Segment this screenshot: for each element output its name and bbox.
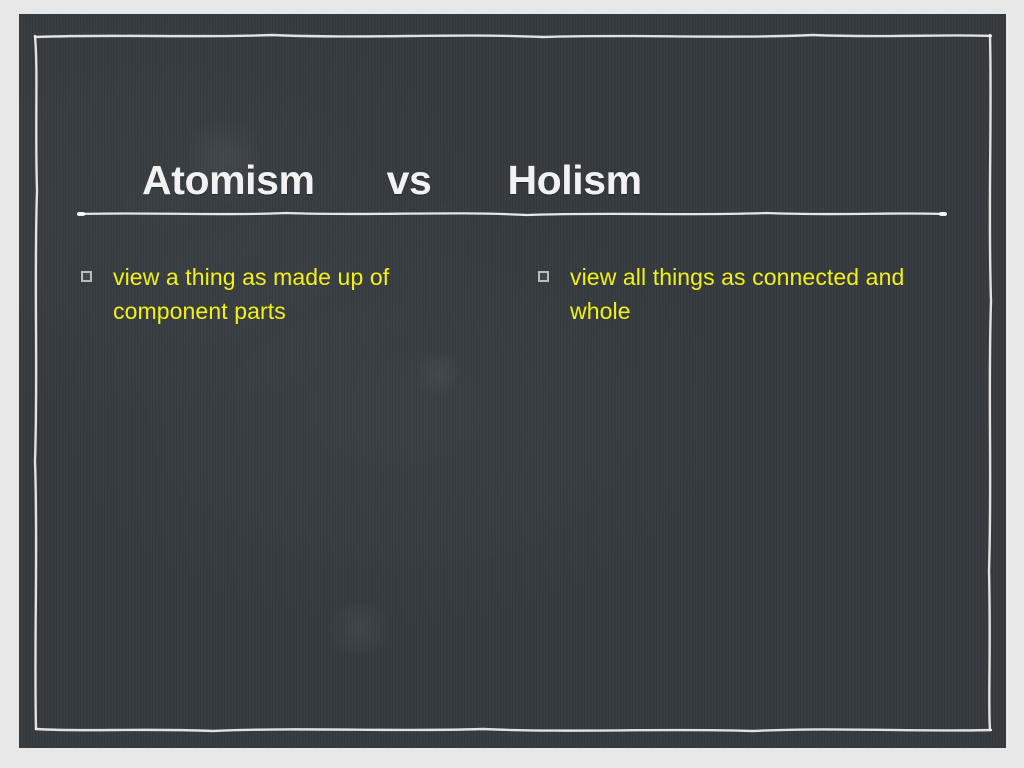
bullet-columns: view a thing as made up of component par… bbox=[19, 260, 1006, 328]
chalk-smudge bbox=[319, 604, 399, 654]
hollow-square-bullet-icon bbox=[538, 271, 549, 282]
bullet-column-holism: view all things as connected and whole bbox=[538, 260, 938, 328]
title-underline-rule bbox=[77, 207, 947, 221]
hollow-square-bullet-icon bbox=[81, 271, 92, 282]
bullet-text-holism: view all things as connected and whole bbox=[570, 260, 915, 328]
slide-content: Atomism vs Holism view a thing as made u… bbox=[19, 14, 1006, 748]
chalkboard-slide: Atomism vs Holism view a thing as made u… bbox=[19, 14, 1006, 748]
title-term-atomism: Atomism bbox=[142, 160, 315, 201]
chalk-smudge bbox=[409, 354, 469, 394]
bullet-text-atomism: view a thing as made up of component par… bbox=[113, 260, 458, 328]
bullet-column-atomism: view a thing as made up of component par… bbox=[81, 260, 481, 328]
slide-page: Atomism vs Holism view a thing as made u… bbox=[0, 0, 1024, 768]
chalk-rule-svg bbox=[77, 207, 947, 221]
title-term-holism: Holism bbox=[507, 160, 641, 201]
title-connector-vs: vs bbox=[387, 160, 432, 201]
slide-title: Atomism vs Holism bbox=[142, 160, 642, 201]
